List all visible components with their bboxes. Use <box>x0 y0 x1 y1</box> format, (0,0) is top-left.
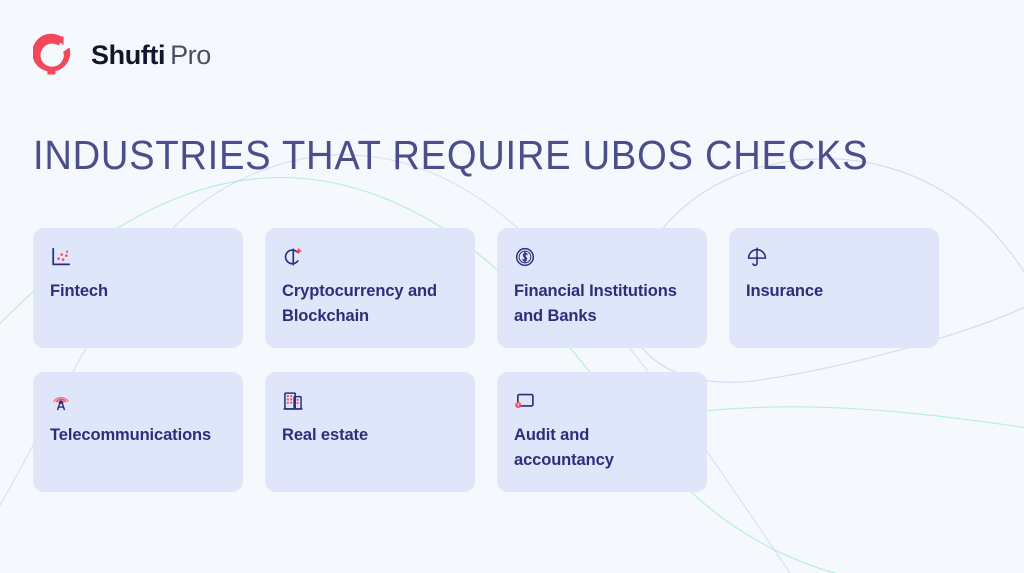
brand-wordmark: ShuftiPro <box>91 42 211 69</box>
industry-card-label: Fintech <box>50 279 227 304</box>
industry-card-label: Insurance <box>746 279 923 304</box>
brand-name-light: Pro <box>170 42 211 69</box>
industry-card-audit[interactable]: Audit and accountancy <box>497 372 707 492</box>
brand-logo: ShuftiPro <box>33 33 211 78</box>
grid-spacer <box>729 372 939 492</box>
slide-canvas: ShuftiPro INDUSTRIES THAT REQUIRE UBOS C… <box>0 0 1024 573</box>
dollar-circle-icon <box>514 246 536 268</box>
shufti-ring-icon <box>33 33 78 78</box>
crypto-coin-icon <box>282 246 304 268</box>
industry-card-label: Cryptocurrency and Blockchain <box>282 279 459 329</box>
industry-card-financial-institutions[interactable]: Financial Institutions and Banks <box>497 228 707 348</box>
industry-card-label: Audit and accountancy <box>514 423 691 473</box>
industry-card-telecommunications[interactable]: Telecommunications <box>33 372 243 492</box>
industry-card-label: Financial Institutions and Banks <box>514 279 691 329</box>
page-title: INDUSTRIES THAT REQUIRE UBOS CHECKS <box>33 131 868 179</box>
industry-card-insurance[interactable]: Insurance <box>729 228 939 348</box>
industry-card-label: Real estate <box>282 423 459 448</box>
umbrella-icon <box>746 246 768 268</box>
industry-card-fintech[interactable]: Fintech <box>33 228 243 348</box>
scatter-chart-icon <box>50 246 72 268</box>
broadcast-tower-icon <box>50 390 72 412</box>
industry-card-cryptocurrency[interactable]: Cryptocurrency and Blockchain <box>265 228 475 348</box>
industry-card-label: Telecommunications <box>50 423 227 448</box>
industry-card-real-estate[interactable]: Real estate <box>265 372 475 492</box>
brand-name-bold: Shufti <box>91 42 165 69</box>
industry-row: Telecommunications <box>33 372 978 492</box>
audit-document-icon <box>514 390 536 412</box>
industry-card-grid: Fintech Cryptocurrency and Blockchain Fi… <box>33 228 978 516</box>
industry-row: Fintech Cryptocurrency and Blockchain Fi… <box>33 228 978 348</box>
buildings-icon <box>282 390 304 412</box>
